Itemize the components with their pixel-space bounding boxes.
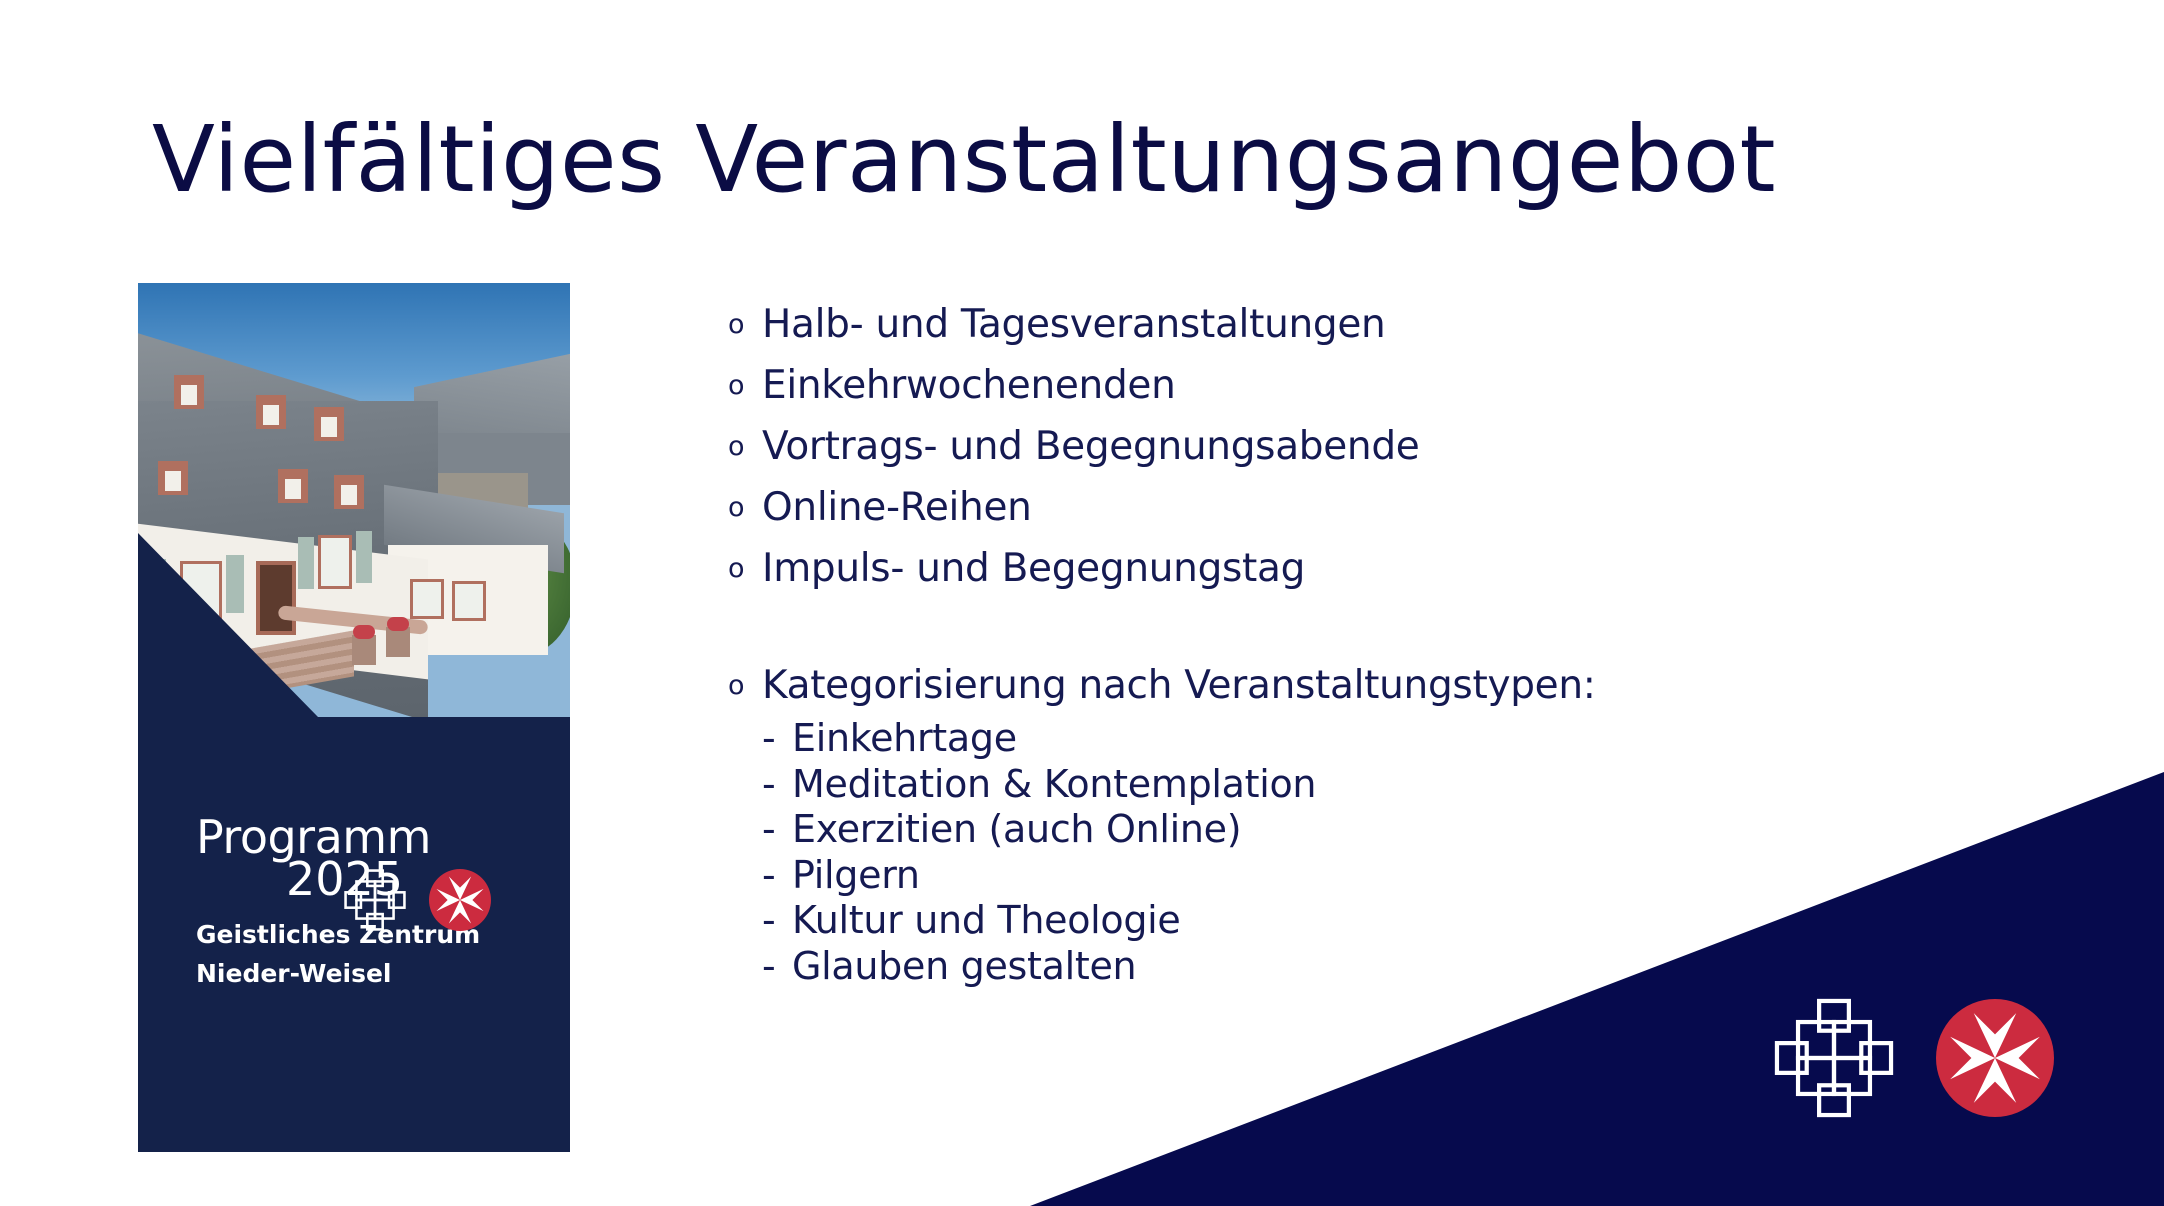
corner-logos [1772,996,2054,1120]
bullet-group-categories: o Kategorisierung nach Veranstaltungstyp… [728,655,1988,989]
jerusalem-cross-icon [343,868,407,932]
brochure-organization-line-2: Nieder-Weisel [196,955,480,994]
bullet-marker-icon: o [728,355,762,416]
list-subitem-label: Einkehrtage [792,716,1017,762]
maltese-cross-icon [429,869,491,931]
list-item: o Halb- und Tagesveranstaltungen [728,294,1988,355]
list-subitem: - Einkehrtage [728,716,1988,762]
list-subitem: - Kultur und Theologie [728,898,1988,944]
bullet-marker-icon: o [728,294,762,355]
list-subitem: - Glauben gestalten [728,944,1988,990]
brochure-logos [343,868,491,932]
brochure-photo [138,283,570,717]
list-item: o Kategorisierung nach Veranstaltungstyp… [728,655,1988,716]
list-item-label: Vortrags- und Begegnungsabende [762,416,1420,477]
list-subitem-label: Pilgern [792,853,920,899]
photo-navy-overlay [138,283,570,717]
maltese-cross-icon [1936,999,2054,1117]
page-title: Vielfältiges Veranstaltungsangebot [152,112,1776,209]
dash-marker-icon: - [762,716,792,762]
list-item: o Einkehrwochenenden [728,355,1988,416]
list-item-label: Einkehrwochenenden [762,355,1176,416]
dash-marker-icon: - [762,853,792,899]
dash-marker-icon: - [762,898,792,944]
list-subitem: - Meditation & Kontemplation [728,762,1988,808]
bullet-group-primary: o Halb- und Tagesveranstaltungen o Einke… [728,294,1988,599]
list-item-label: Halb- und Tagesveranstaltungen [762,294,1385,355]
list-subitem-label: Kultur und Theologie [792,898,1181,944]
brochure-card: Programm 2025 Geistliches Zentrum Nieder… [138,283,570,1152]
bullet-marker-icon: o [728,538,762,599]
bullet-marker-icon: o [728,416,762,477]
jerusalem-cross-icon [1772,996,1896,1120]
list-item-label: Impuls- und Begegnungstag [762,538,1305,599]
list-subitem: - Exerzitien (auch Online) [728,807,1988,853]
content-list: o Halb- und Tagesveranstaltungen o Einke… [728,294,1988,989]
presentation-slide: Vielfältiges Veranstaltungsangebot [0,0,2164,1206]
bullet-marker-icon: o [728,477,762,538]
list-subitem: - Pilgern [728,853,1988,899]
list-item: o Impuls- und Begegnungstag [728,538,1988,599]
bullet-marker-icon: o [728,655,762,716]
list-item: o Online-Reihen [728,477,1988,538]
dash-marker-icon: - [762,762,792,808]
list-item-label: Kategorisierung nach Veranstaltungstypen… [762,655,1596,716]
list-subitem-label: Exerzitien (auch Online) [792,807,1241,853]
list-item-label: Online-Reihen [762,477,1032,538]
list-subitem-label: Meditation & Kontemplation [792,762,1316,808]
dash-marker-icon: - [762,807,792,853]
list-subitem-label: Glauben gestalten [792,944,1136,990]
dash-marker-icon: - [762,944,792,990]
list-item: o Vortrags- und Begegnungsabende [728,416,1988,477]
